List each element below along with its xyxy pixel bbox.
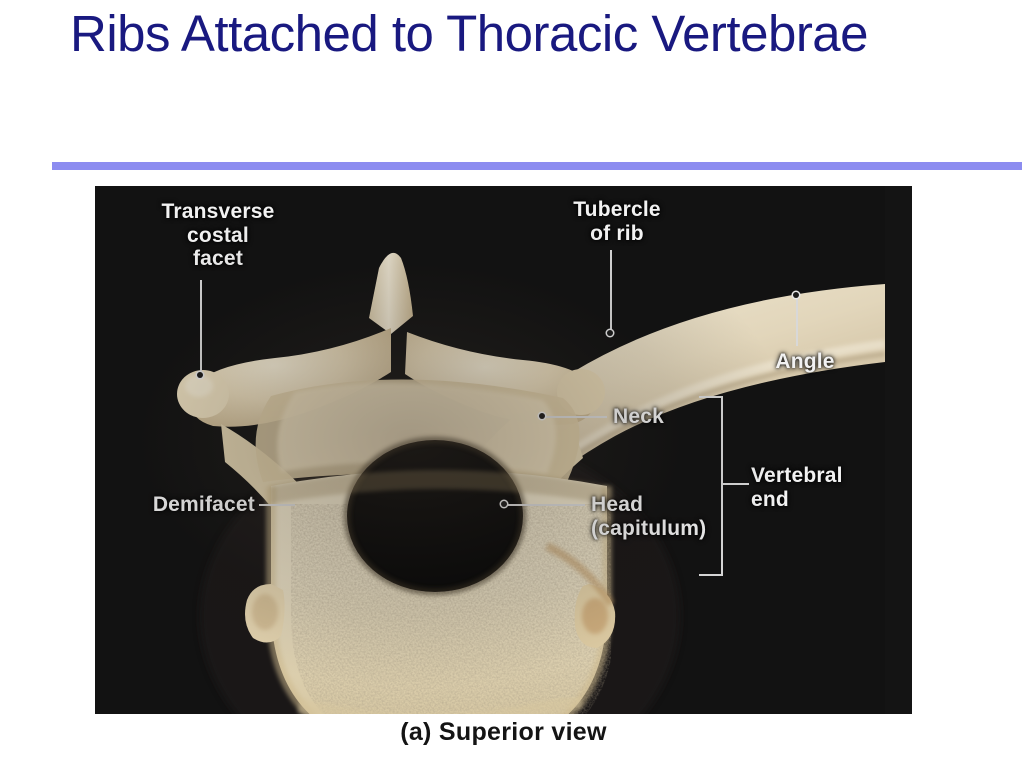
leader-neck	[543, 416, 607, 418]
leader-dot-angle	[793, 292, 799, 298]
label-vertebral-end: Vertebral end	[751, 464, 885, 511]
spinous-process	[369, 253, 413, 334]
leader-tubercle-of-rib	[610, 250, 612, 334]
leader-dot-neck	[539, 413, 545, 419]
title-divider	[52, 162, 1022, 170]
label-angle: Angle	[745, 350, 865, 374]
anatomy-figure-panel: Transverse costal facet Tubercle of rib …	[95, 186, 912, 714]
leader-transverse-costal-facet	[200, 280, 202, 376]
label-tubercle-of-rib: Tubercle of rib	[537, 198, 697, 245]
leader-dot-tubercle-of-rib	[607, 330, 613, 336]
label-demifacet: Demifacet	[105, 493, 255, 517]
leader-vertebral-end	[721, 483, 749, 485]
bracket-vertebral-end	[699, 396, 723, 576]
label-transverse-costal-facet: Transverse costal facet	[123, 200, 313, 271]
anatomy-photograph: Transverse costal facet Tubercle of rib …	[95, 186, 885, 714]
figure-caption: (a) Superior view	[95, 718, 912, 747]
leader-angle	[796, 298, 798, 346]
leader-dot-head-capitulum	[501, 501, 507, 507]
leader-head-capitulum	[507, 504, 585, 506]
page-title: Ribs Attached to Thoracic Vertebrae	[70, 4, 950, 63]
leader-dot-transverse-costal-facet	[197, 372, 203, 378]
leader-demifacet	[259, 504, 295, 506]
